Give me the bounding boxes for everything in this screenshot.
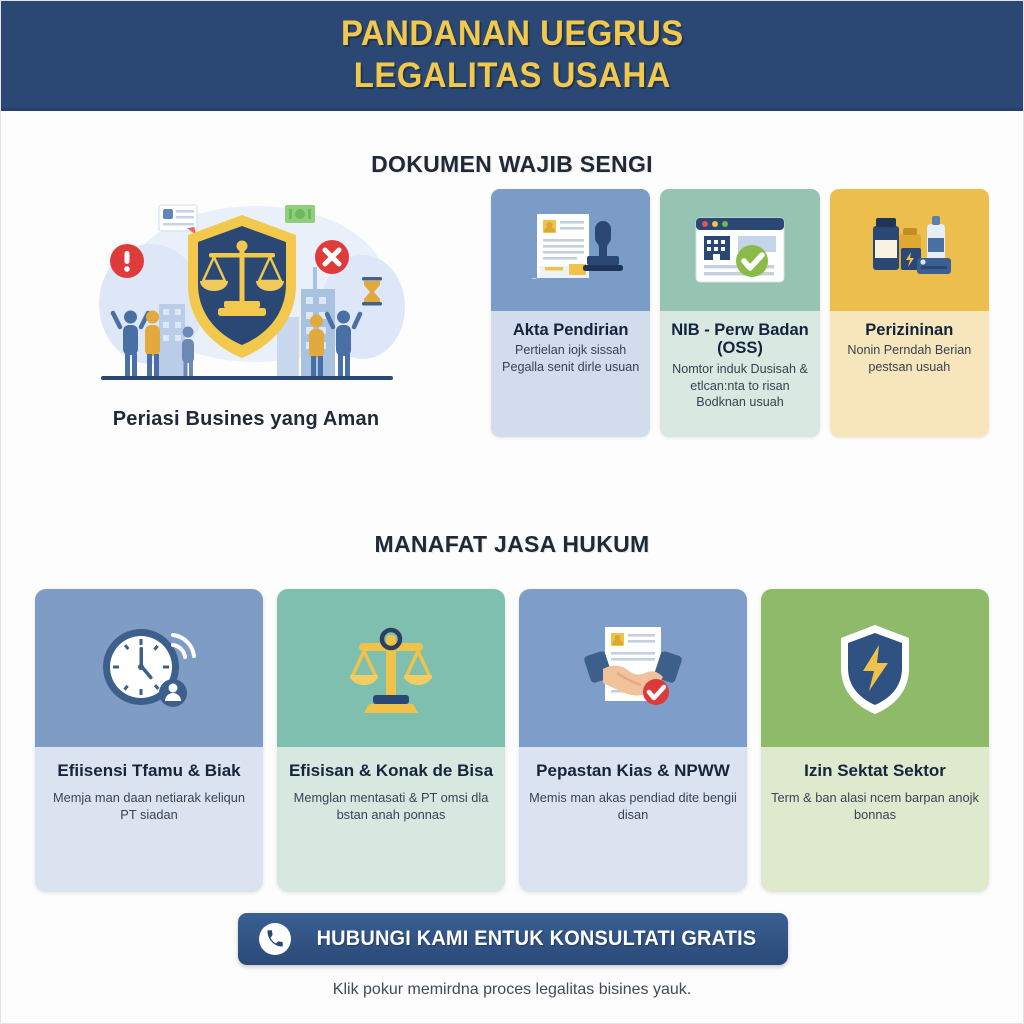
handshake-document-check-icon <box>519 589 747 747</box>
benefit-card-title: Izin Sektat Sektor <box>771 761 979 781</box>
footnote-text: Klik pokur memirdna proces legalitas bis… <box>1 981 1023 999</box>
benefit-card-body: Pepastan Kias & NPWW Memis man akas pend… <box>519 747 747 892</box>
phone-icon <box>259 923 291 955</box>
benefit-card-desc: Memglan mentasati & PT omsi dla bstan an… <box>287 789 495 824</box>
document-card-desc: Nonin Perndah Berian pestsan usuah <box>838 342 981 375</box>
benefits-cards-row: Efiisensi Tfamu & Biak Memja man daan ne… <box>35 589 989 892</box>
document-card-akta[interactable]: Akta Pendirian Pertielan iojk sissah Peg… <box>491 189 650 437</box>
infographic-page: PANDANAN UEGRUS LEGALITAS USAHA DOKUMEN … <box>0 0 1024 1024</box>
document-card-title: NIB - Perw Badan (OSS) <box>668 321 811 358</box>
page-title: PANDANAN UEGRUS LEGALITAS USAHA <box>341 13 684 96</box>
document-card-title: Akta Pendirian <box>499 321 642 339</box>
hero-caption: Periasi Busines yang Aman <box>113 408 380 431</box>
header-banner: PANDANAN UEGRUS LEGALITAS USAHA <box>1 1 1023 111</box>
document-card-title: Perizininan <box>838 321 981 339</box>
document-cards-row: Akta Pendirian Pertielan iojk sissah Peg… <box>481 189 993 437</box>
benefit-card-izin-sektor[interactable]: Izin Sektat Sektor Term & ban alasi ncem… <box>761 589 989 892</box>
license-products-icon <box>830 189 989 311</box>
clock-person-signal-icon <box>35 589 263 747</box>
benefit-card-efisiensi-biaya[interactable]: Efisisan & Konak de Bisa Memglan mentasa… <box>277 589 505 892</box>
page-title-line1: PANDANAN UEGRUS <box>341 14 684 53</box>
documents-section-title: DOKUMEN WAJIB SENGI <box>1 151 1023 178</box>
document-card-nib[interactable]: NIB - Perw Badan (OSS) Nomtor induk Dusi… <box>660 189 819 437</box>
benefit-card-title: Efisisan & Konak de Bisa <box>287 761 495 781</box>
shield-scales-illustration <box>81 189 411 394</box>
benefit-card-desc: Term & ban alasi ncem barpan anojk bonna… <box>771 789 979 824</box>
benefit-card-kepastian[interactable]: Pepastan Kias & NPWW Memis man akas pend… <box>519 589 747 892</box>
benefit-card-title: Efiisensi Tfamu & Biak <box>45 761 253 781</box>
page-title-line2: LEGALITAS USAHA <box>353 56 670 95</box>
document-card-body: NIB - Perw Badan (OSS) Nomtor induk Dusi… <box>660 311 819 437</box>
document-card-body: Perizininan Nonin Perndah Berian pestsan… <box>830 311 989 437</box>
browser-verified-icon <box>660 189 819 311</box>
document-card-body: Akta Pendirian Pertielan iojk sissah Peg… <box>491 311 650 437</box>
hero-block: Periasi Busines yang Aman <box>31 189 461 437</box>
benefit-card-body: Efiisensi Tfamu & Biak Memja man daan ne… <box>35 747 263 892</box>
benefits-section-title: MANAFAT JASA HUKUM <box>1 531 1023 558</box>
benefit-card-desc: Memis man akas pendiad dite bengii disan <box>529 789 737 824</box>
benefit-card-body: Efisisan & Konak de Bisa Memglan mentasa… <box>277 747 505 892</box>
document-card-perizinan[interactable]: Perizininan Nonin Perndah Berian pestsan… <box>830 189 989 437</box>
documents-section: Periasi Busines yang Aman <box>1 189 1023 437</box>
document-card-desc: Pertielan iojk sissah Pegalla senit dirl… <box>499 342 642 375</box>
benefit-card-desc: Memja man daan netiarak keliqun PT siada… <box>45 789 253 824</box>
cta-label: HUBUNGI KAMI ENTUK KONSULTATI GRATIS <box>316 927 756 951</box>
benefit-card-efisiensi[interactable]: Efiisensi Tfamu & Biak Memja man daan ne… <box>35 589 263 892</box>
scales-justice-icon <box>277 589 505 747</box>
benefit-card-body: Izin Sektat Sektor Term & ban alasi ncem… <box>761 747 989 892</box>
benefit-card-title: Pepastan Kias & NPWW <box>529 761 737 781</box>
cta-button[interactable]: HUBUNGI KAMI ENTUK KONSULTATI GRATIS <box>238 913 788 965</box>
shield-bolt-icon <box>761 589 989 747</box>
document-stamp-icon <box>491 189 650 311</box>
document-card-desc: Nomtor induk Dusisah & etlcan:nta to ris… <box>668 361 811 411</box>
